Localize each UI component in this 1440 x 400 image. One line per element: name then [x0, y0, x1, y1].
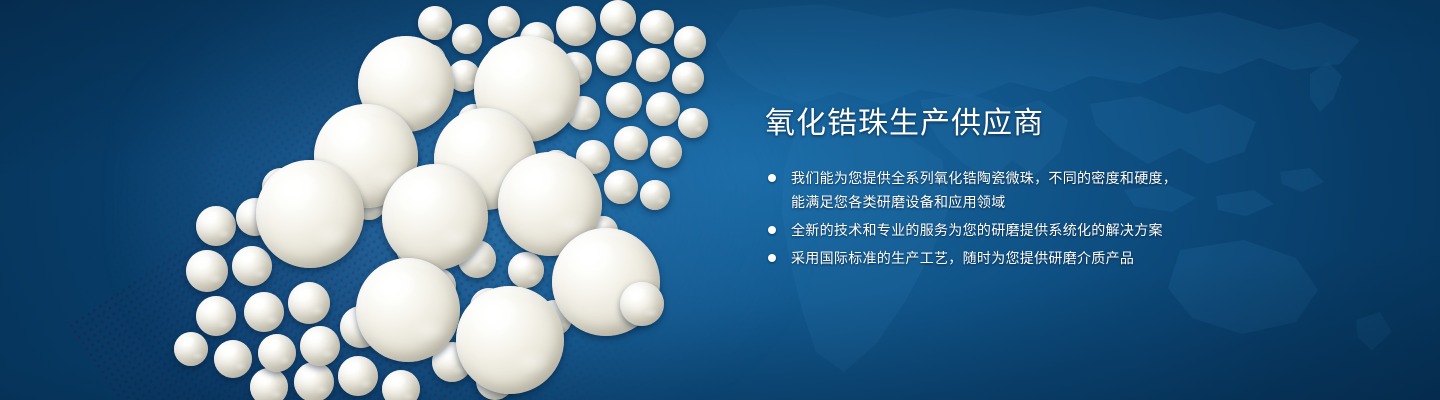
list-item-line: 能满足您各类研磨设备和应用领域: [791, 190, 1235, 214]
bullet-dot-icon: [768, 254, 776, 262]
bullet-dot-icon: [768, 226, 776, 234]
banner-copy: 氧化锆珠生产供应商 我们能为您提供全系列氧化锆陶瓷微珠，不同的密度和硬度， 能满…: [765, 104, 1235, 274]
list-item-line: 我们能为您提供全系列氧化锆陶瓷微珠，不同的密度和硬度，: [791, 166, 1235, 190]
list-item: 采用国际标准的生产工艺，随时为您提供研磨介质产品: [765, 246, 1235, 270]
list-item-line: 采用国际标准的生产工艺，随时为您提供研磨介质产品: [791, 246, 1235, 270]
hero-banner: 氧化锆珠生产供应商 我们能为您提供全系列氧化锆陶瓷微珠，不同的密度和硬度， 能满…: [0, 0, 1440, 400]
list-item: 全新的技术和专业的服务为您的研磨提供系统化的解决方案: [765, 218, 1235, 242]
zirconia-bead-cluster: [0, 0, 760, 400]
feature-list: 我们能为您提供全系列氧化锆陶瓷微珠，不同的密度和硬度， 能满足您各类研磨设备和应…: [765, 166, 1235, 270]
bullet-dot-icon: [768, 174, 776, 182]
list-item-line: 全新的技术和专业的服务为您的研磨提供系统化的解决方案: [791, 218, 1235, 242]
page-title: 氧化锆珠生产供应商: [765, 104, 1235, 144]
list-item: 我们能为您提供全系列氧化锆陶瓷微珠，不同的密度和硬度， 能满足您各类研磨设备和应…: [765, 166, 1235, 214]
